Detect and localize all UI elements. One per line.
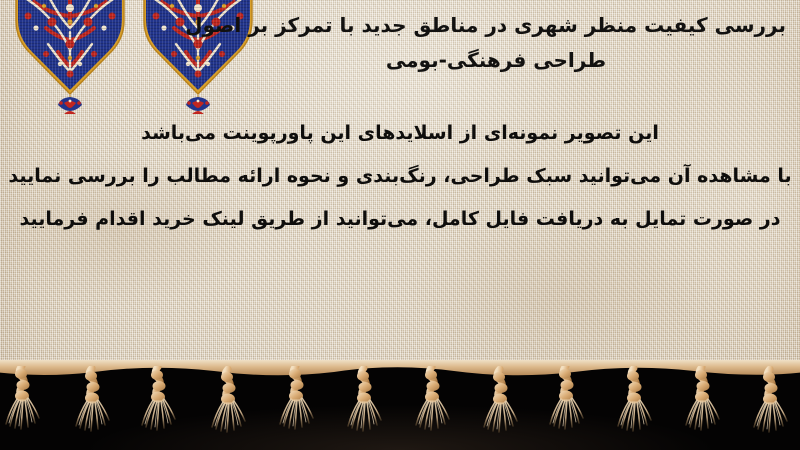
carpet-fringe xyxy=(0,360,800,450)
carpet-medallion-icon xyxy=(14,0,126,114)
title-line-2: طراحی فرهنگی-بومی xyxy=(206,43,786,78)
slide-body: این تصویر نمونه‌ای از اسلایدهای این پاور… xyxy=(8,112,792,241)
fringe-tassels-icon xyxy=(0,366,800,450)
body-line-3: در صورت تمایل به دریافت فایل کامل، می‌تو… xyxy=(8,198,792,241)
body-line-2: با مشاهده آن می‌توانید سبک طراحی، رنگ‌بن… xyxy=(8,155,792,198)
presentation-slide: بررسی کیفیت منظر شهری در مناطق جدید با ت… xyxy=(0,0,800,450)
carpet-pendant-icon xyxy=(58,94,82,114)
title-line-1: بررسی کیفیت منظر شهری در مناطق جدید با ت… xyxy=(206,8,786,43)
carpet-medallion-left xyxy=(14,0,126,118)
slide-title: بررسی کیفیت منظر شهری در مناطق جدید با ت… xyxy=(206,8,786,78)
body-line-1: این تصویر نمونه‌ای از اسلایدهای این پاور… xyxy=(8,112,792,155)
carpet-pendant-icon xyxy=(186,94,210,114)
